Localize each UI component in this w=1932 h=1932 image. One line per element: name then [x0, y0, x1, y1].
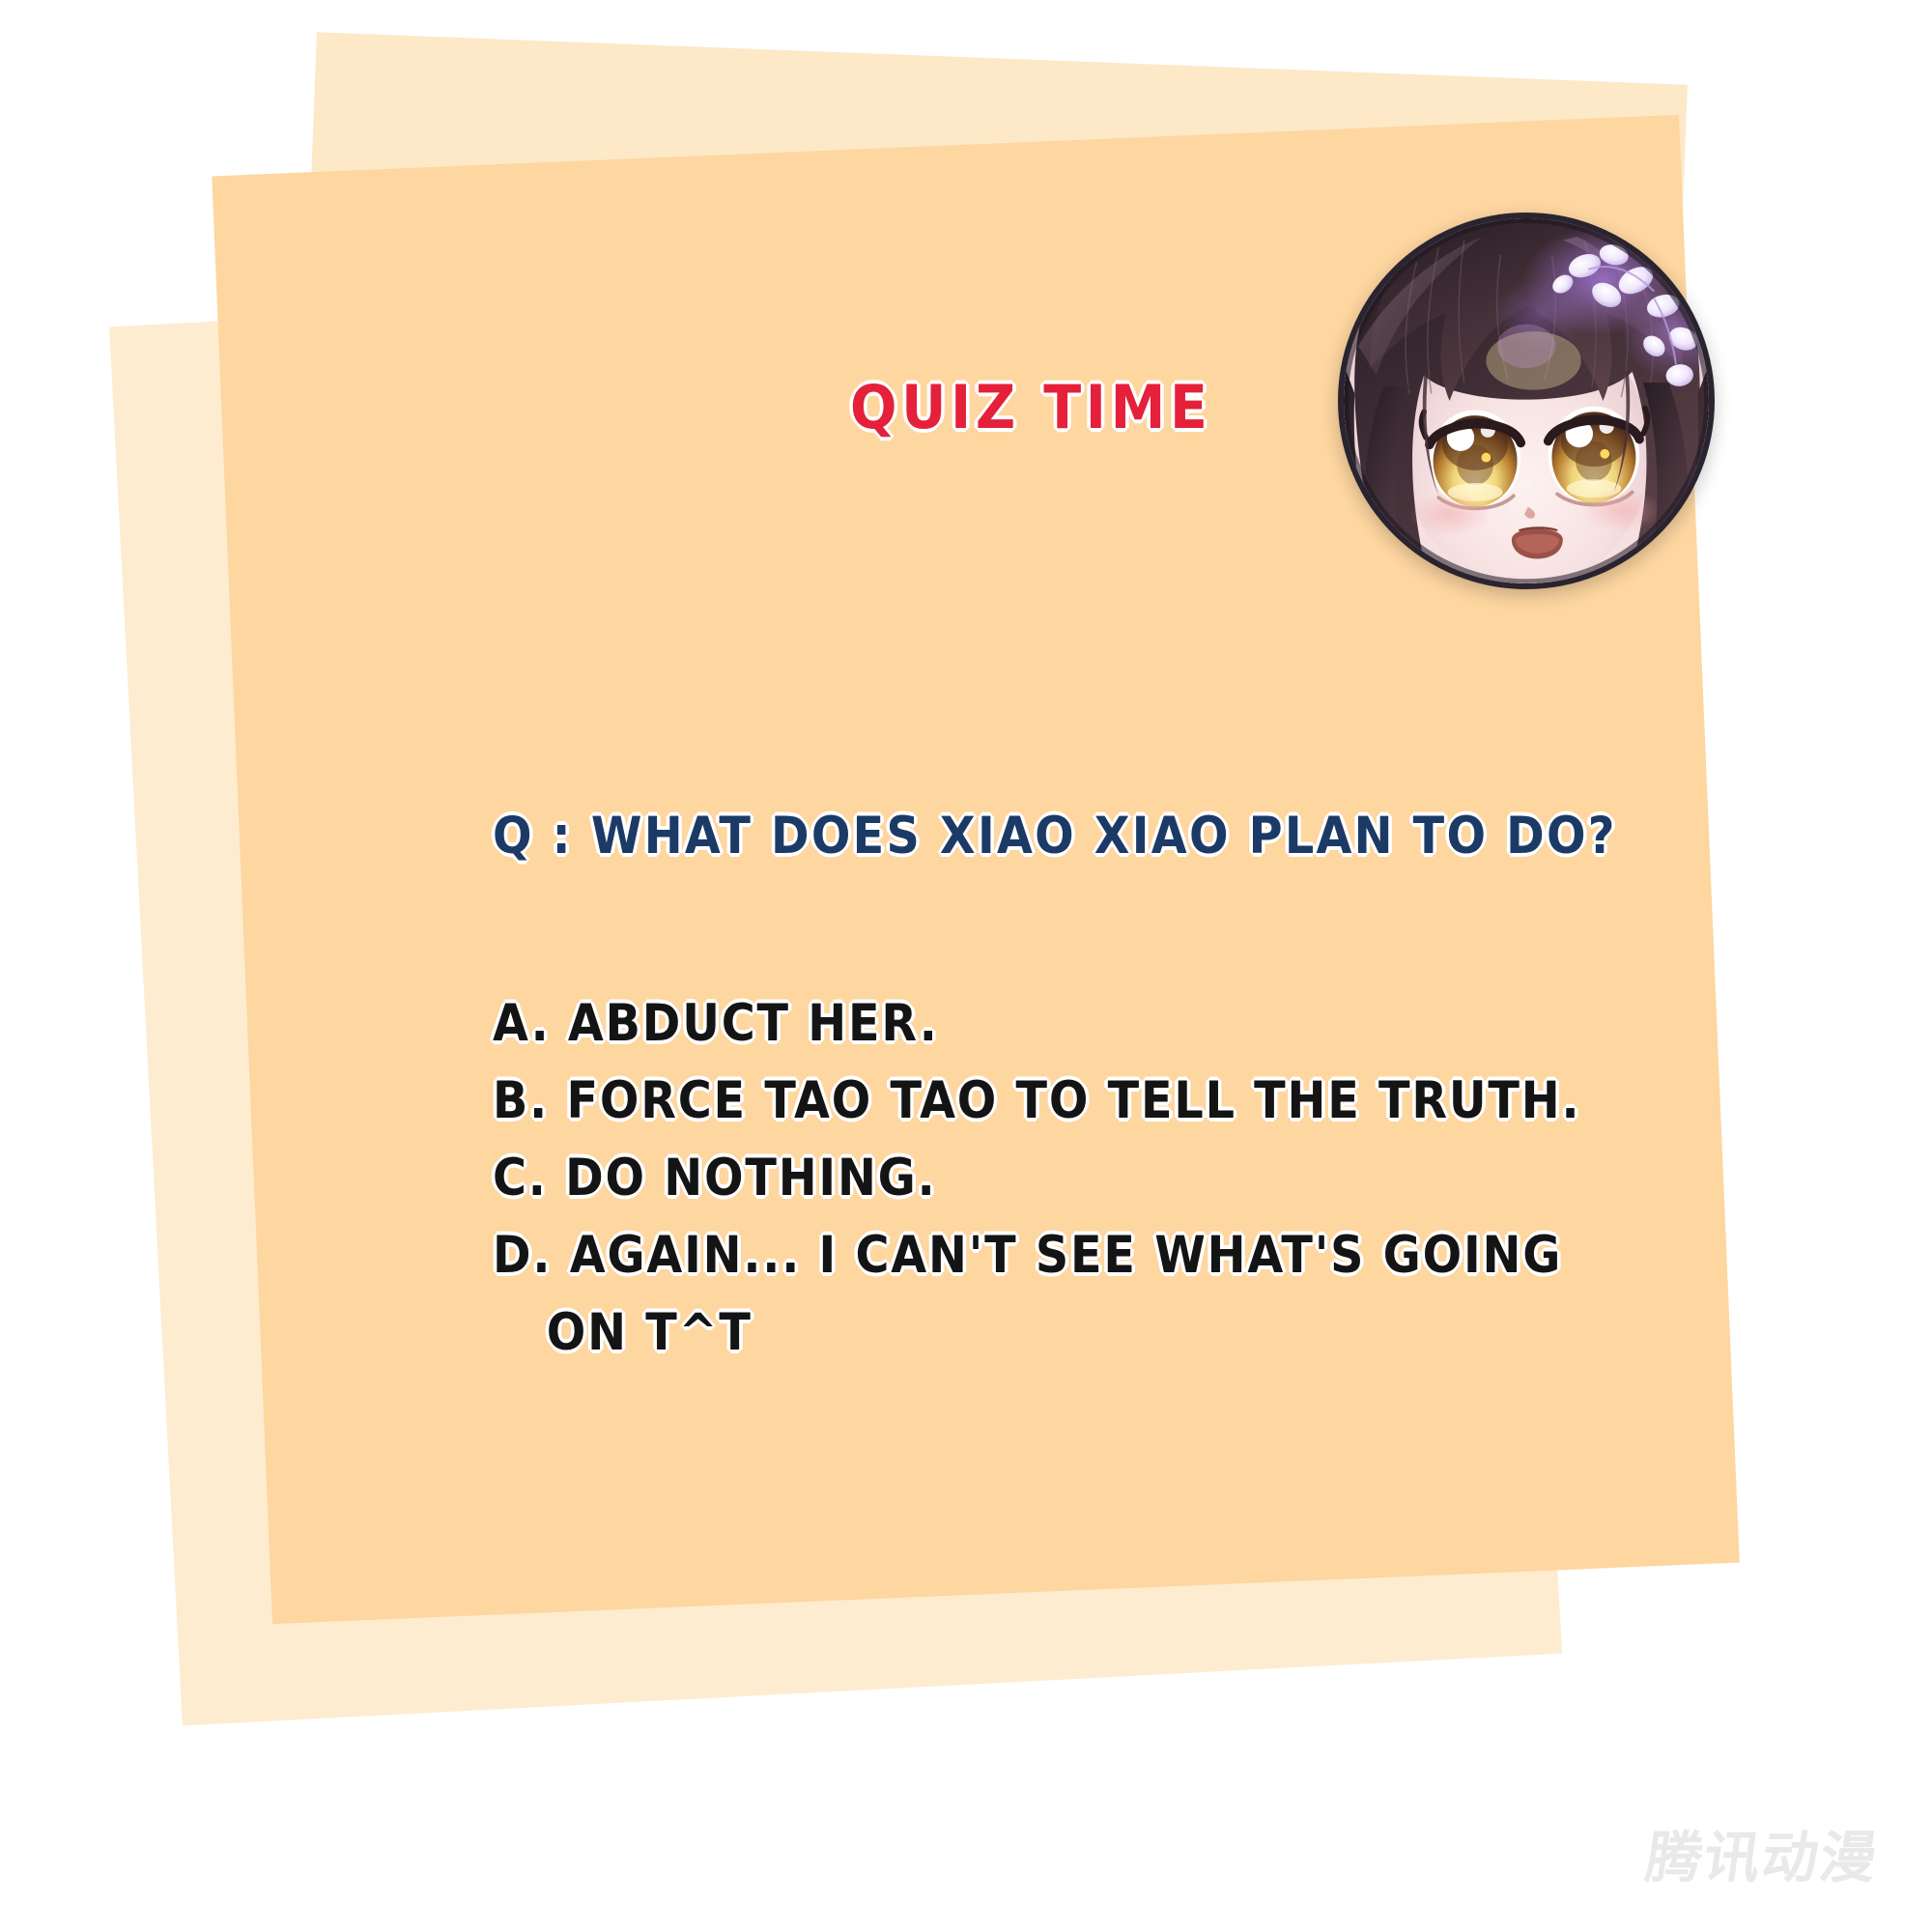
quiz-option-c[interactable]: C. DO NOTHING. [493, 1140, 1449, 1217]
character-avatar[interactable] [1338, 213, 1715, 589]
quiz-page: QUIZ TIME Q : WHAT DOES XIAO XIAO PLAN T… [0, 0, 1932, 1932]
quiz-option-d[interactable]: D. AGAIN... I CAN'T SEE WHAT'S GOING [493, 1217, 1449, 1294]
quiz-option-a[interactable]: A. ABDUCT HER. [493, 985, 1449, 1063]
quiz-option-d-continuation[interactable]: ON T^T [493, 1294, 1449, 1372]
quiz-option-b[interactable]: B. FORCE TAO TAO TO TELL THE TRUTH. [493, 1063, 1449, 1140]
quiz-question: Q : WHAT DOES XIAO XIAO PLAN TO DO? [493, 807, 1617, 866]
quiz-options-list: A. ABDUCT HER. B. FORCE TAO TAO TO TELL … [493, 985, 1555, 1372]
watermark: 腾讯动漫 [1641, 1812, 1885, 1893]
quiz-title: QUIZ TIME [850, 372, 1212, 442]
quiz-content: QUIZ TIME Q : WHAT DOES XIAO XIAO PLAN T… [0, 0, 1932, 1932]
